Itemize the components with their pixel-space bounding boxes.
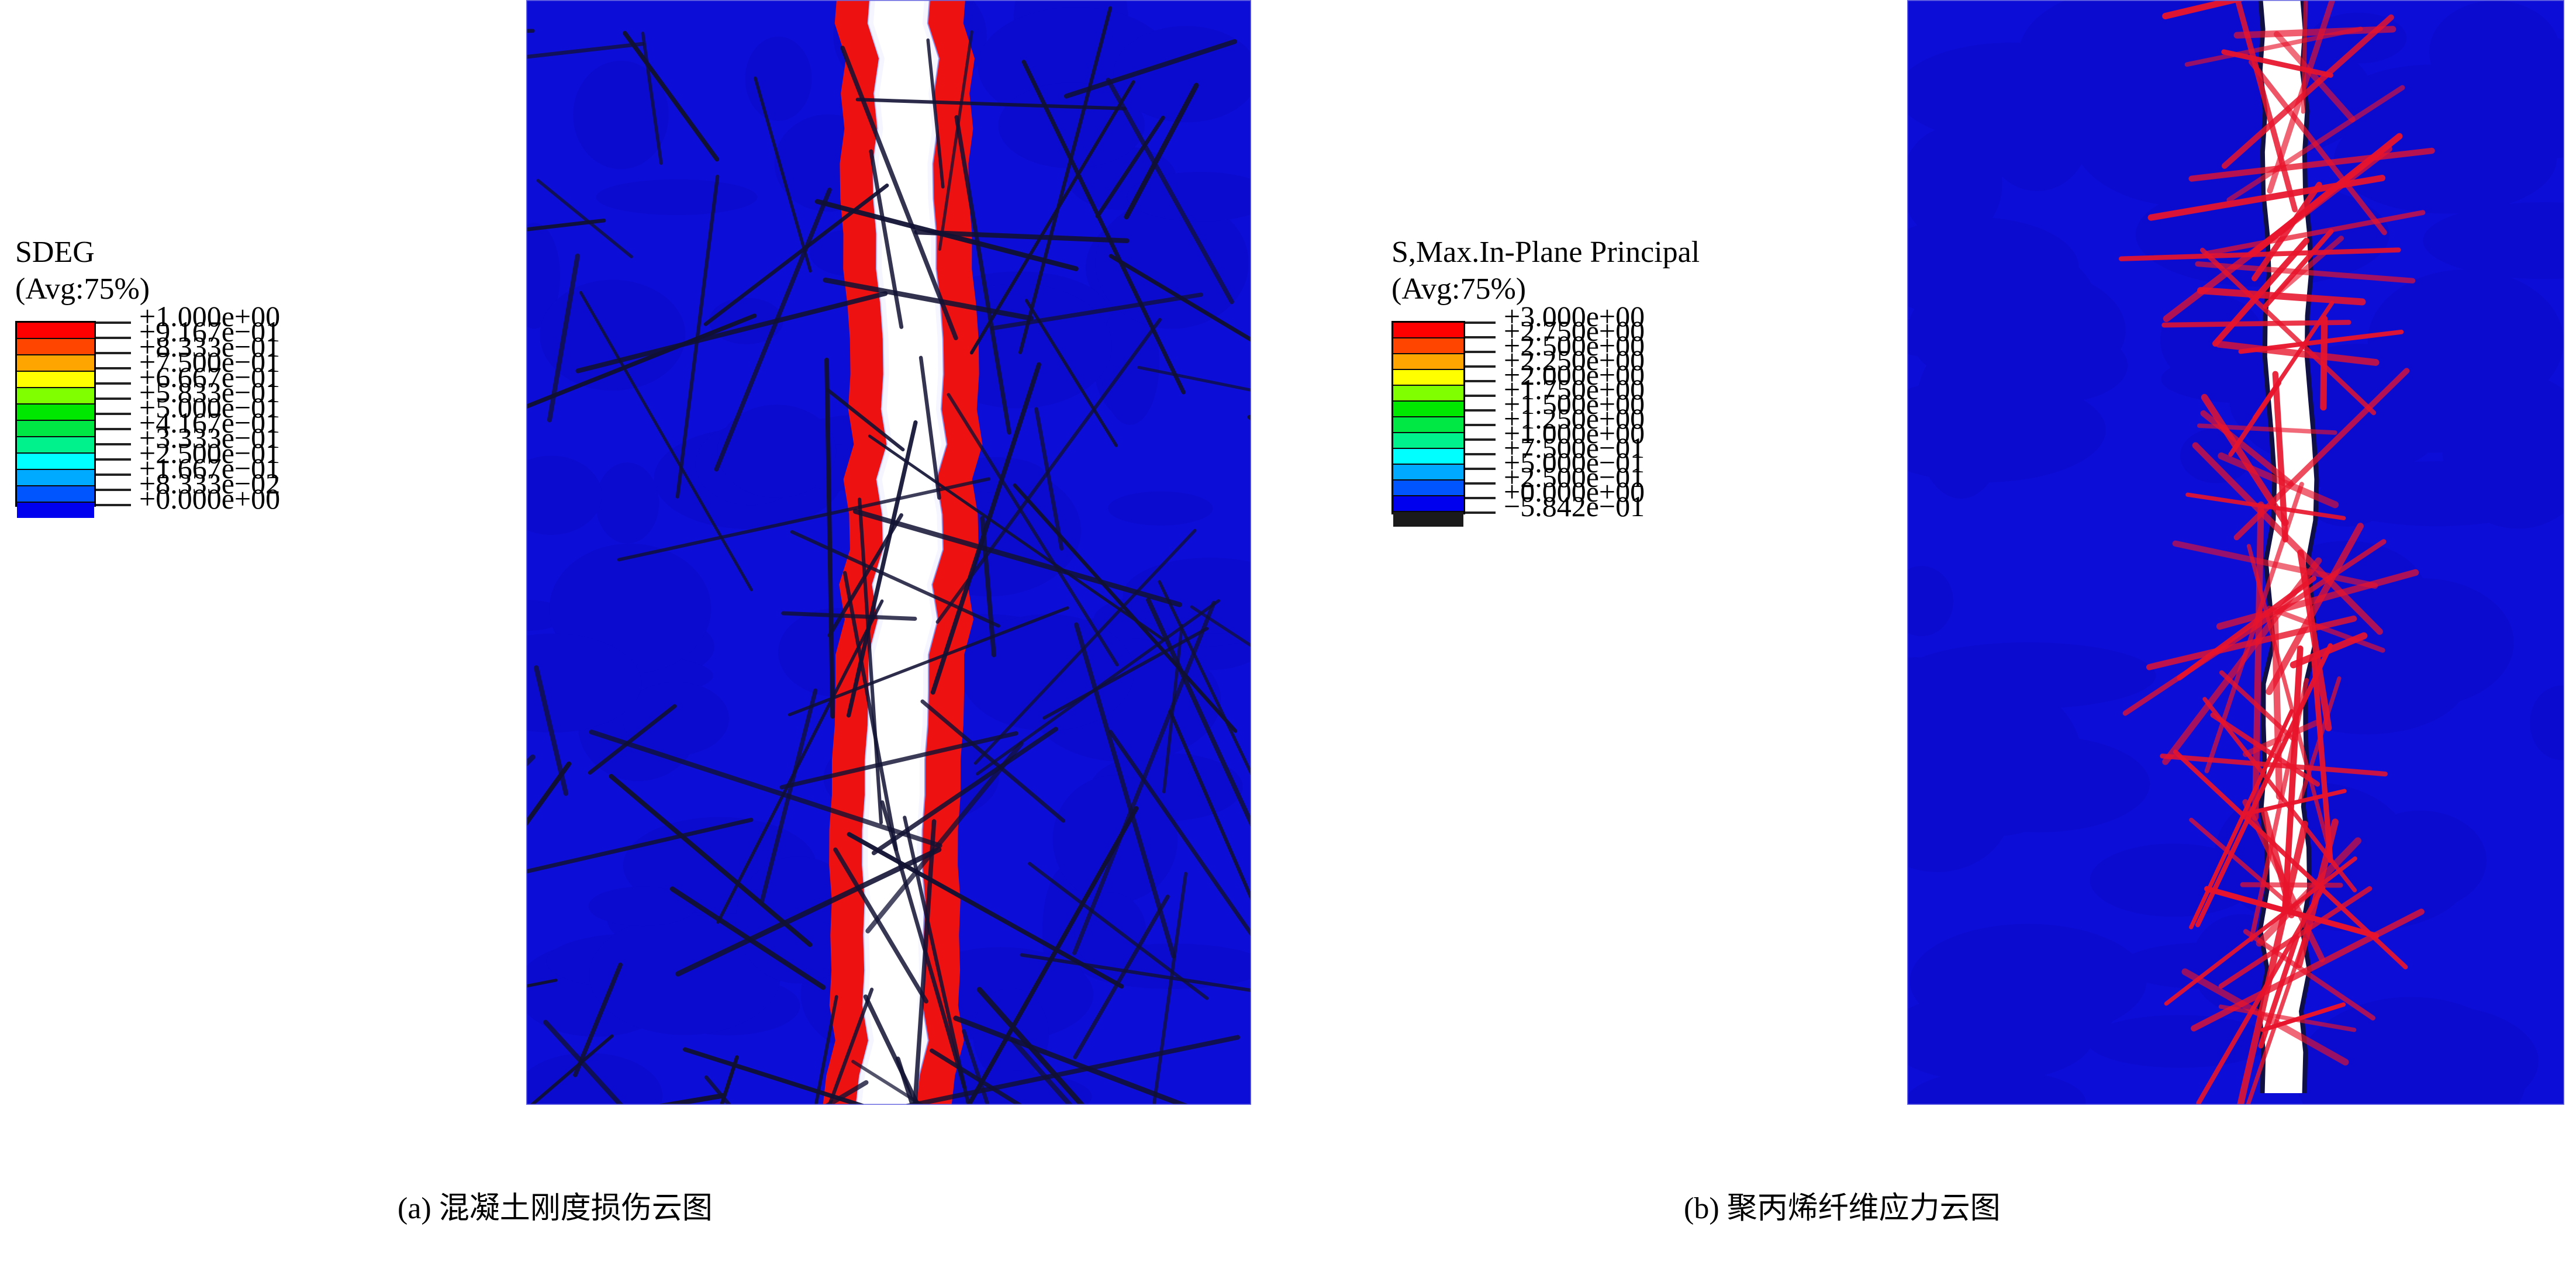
colorbar-band-12 — [1393, 511, 1463, 527]
colorbar-tick-10 — [1465, 468, 1496, 470]
fiber-segment — [2275, 619, 2279, 796]
colorbar-band-3 — [17, 371, 94, 387]
colorbar-tick-4 — [1465, 380, 1496, 382]
colorbar-band-8 — [1393, 448, 1463, 464]
colorbar-band-10 — [17, 485, 94, 502]
legend-b-title: S,Max.In-Plane Principal — [1391, 234, 1700, 271]
colorbar-band-6 — [1393, 416, 1463, 432]
colorbar-tick-label-13: −5.842e−01 — [1504, 492, 1645, 521]
legend-sdeg: SDEG (Avg:75%) +1.000e+00+9.167e−01+8.33… — [15, 234, 150, 316]
colorbar-tick-8 — [96, 443, 131, 445]
colorbar-tick-12 — [1465, 497, 1496, 499]
colorbar-tick-9 — [1465, 453, 1496, 455]
colorbar-band-6 — [17, 420, 94, 436]
legend-a-title: SDEG — [15, 234, 150, 271]
colorbar-band-10 — [1393, 479, 1463, 495]
colorbar-tick-2 — [96, 352, 131, 354]
colorbar-tick-2 — [1465, 351, 1496, 353]
colorbar-band-7 — [17, 436, 94, 452]
colorbar-band-4 — [17, 387, 94, 403]
caption-b: (b) 聚丙烯纤维应力云图 — [1684, 1183, 2001, 1227]
colorbar-band-4 — [1393, 385, 1463, 400]
caption-a: (a) 混凝土刚度损伤云图 — [398, 1183, 713, 1227]
colorbar-band-11 — [17, 502, 94, 518]
contour-plot-a-canvas — [526, 0, 1251, 1105]
colorbar-tick-6 — [1465, 409, 1496, 412]
colorbar-sdeg — [15, 321, 96, 507]
colorbar-tick-5 — [96, 398, 131, 400]
colorbar-band-0 — [17, 323, 94, 338]
colorbar-tick-1 — [96, 337, 131, 339]
colorbar-tick-label-12: +0.000e+00 — [139, 484, 280, 513]
colorbar-tick-7 — [1465, 424, 1496, 426]
colorbar-tick-8 — [1465, 438, 1496, 441]
colorbar-band-2 — [17, 354, 94, 371]
colorbar-tick-6 — [96, 413, 131, 415]
colorbar-tick-7 — [96, 428, 131, 430]
colorbar-band-5 — [17, 403, 94, 420]
colorbar-band-3 — [1393, 369, 1463, 385]
colorbar-tick-5 — [1465, 395, 1496, 397]
colorbar-band-7 — [1393, 432, 1463, 448]
colorbar-smax — [1391, 321, 1465, 514]
colorbar-tick-12 — [96, 504, 131, 506]
colorbar-tick-0 — [1465, 322, 1496, 324]
colorbar-band-2 — [1393, 353, 1463, 369]
colorbar-tick-0 — [96, 322, 131, 324]
legend-a-subtitle: (Avg:75%) — [15, 271, 150, 307]
colorbar-tick-3 — [96, 367, 131, 369]
colorbar-tick-9 — [96, 458, 131, 461]
colorbar-band-8 — [17, 452, 94, 469]
contour-plot-b-canvas — [1907, 0, 2564, 1105]
colorbar-band-5 — [1393, 400, 1463, 416]
colorbar-band-1 — [17, 338, 94, 354]
colorbar-tick-3 — [1465, 365, 1496, 368]
colorbar-tick-11 — [1465, 482, 1496, 485]
colorbar-tick-11 — [96, 489, 131, 491]
contour-plot-fiber-stress — [1907, 0, 2564, 1105]
colorbar-tick-10 — [96, 473, 131, 476]
colorbar-tick-13 — [1465, 511, 1496, 514]
colorbar-band-9 — [17, 469, 94, 485]
colorbar-tick-4 — [96, 382, 131, 385]
colorbar-band-1 — [1393, 337, 1463, 353]
colorbar-tick-1 — [1465, 336, 1496, 338]
colorbar-band-11 — [1393, 495, 1463, 511]
colorbar-band-9 — [1393, 464, 1463, 479]
colorbar-band-0 — [1393, 323, 1463, 337]
contour-plot-concrete-damage — [526, 0, 1251, 1105]
legend-smax-inplane-principal: S,Max.In-Plane Principal (Avg:75%) +3.00… — [1391, 234, 1700, 316]
